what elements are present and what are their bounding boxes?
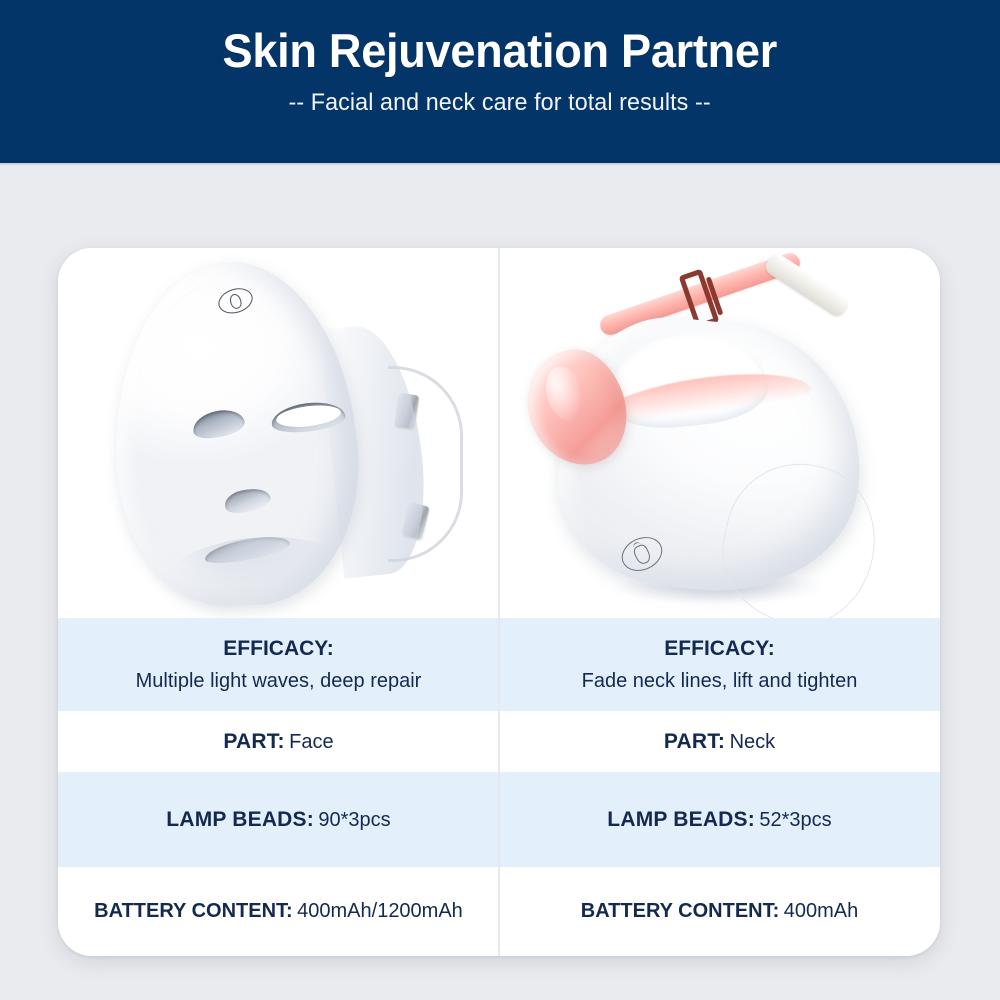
spec-row-battery: BATTERY CONTENT: 400mAh [499,867,940,956]
spec-value-battery: 400mAh [784,900,859,922]
product-infographic-page: Skin Rejuvenation Partner -- Facial and … [0,0,1000,1000]
product-photo-neck-device [499,248,940,618]
mask-nose-opening [223,485,273,517]
mask-eye-opening-left [190,406,246,442]
spec-value-lamp-beads: 90*3pcs [318,809,390,831]
spec-label-efficacy: EFFICACY: [664,637,774,661]
neck-device-illustration [499,248,940,618]
spec-row-lamp-beads: LAMP BEADS: 52*3pcs [499,772,940,867]
spec-label-efficacy: EFFICACY: [223,637,333,661]
column-divider [498,248,500,956]
page-subtitle: -- Facial and neck care for total result… [289,89,711,117]
spec-row-part: PART: Neck [499,711,940,772]
comparison-card: EFFICACY: Multiple light waves, deep rep… [58,248,940,956]
header-banner: Skin Rejuvenation Partner -- Facial and … [0,0,1000,163]
neck-inner-seam [709,450,889,618]
spec-label-part: PART: [223,730,284,753]
product-column-neck-device: EFFICACY: Fade neck lines, lift and tigh… [499,248,940,956]
brand-logo-icon [215,284,255,317]
spec-value-efficacy: Fade neck lines, lift and tighten [582,670,858,693]
mask-shading [318,321,434,579]
spec-value-lamp-beads: 52*3pcs [759,809,831,831]
spec-row-lamp-beads: LAMP BEADS: 90*3pcs [58,772,499,867]
spec-value-part: Neck [730,731,776,753]
spec-label-part: PART: [664,730,725,753]
header-divider [0,163,1000,165]
face-mask-illustration [58,248,499,618]
spec-value-part: Face [289,731,333,753]
spec-row-part: PART: Face [58,711,499,772]
spec-row-efficacy: EFFICACY: Fade neck lines, lift and tigh… [499,618,940,711]
neck-strap-white-icon [762,251,851,320]
product-column-face-mask: EFFICACY: Multiple light waves, deep rep… [58,248,499,956]
spec-row-battery: BATTERY CONTENT: 400mAh/1200mAh [58,867,499,956]
spec-label-battery: BATTERY CONTENT: [581,900,780,922]
spec-label-battery: BATTERY CONTENT: [94,900,293,922]
spec-value-efficacy: Multiple light waves, deep repair [136,670,422,693]
spec-label-lamp-beads: LAMP BEADS: [166,808,314,831]
spec-list-neck-device: EFFICACY: Fade neck lines, lift and tigh… [499,618,940,956]
product-photo-face-mask [58,248,499,618]
spec-label-lamp-beads: LAMP BEADS: [607,808,755,831]
spec-list-face-mask: EFFICACY: Multiple light waves, deep rep… [58,618,499,956]
spec-row-efficacy: EFFICACY: Multiple light waves, deep rep… [58,618,499,711]
page-title: Skin Rejuvenation Partner [223,26,777,75]
spec-value-battery: 400mAh/1200mAh [297,900,463,922]
